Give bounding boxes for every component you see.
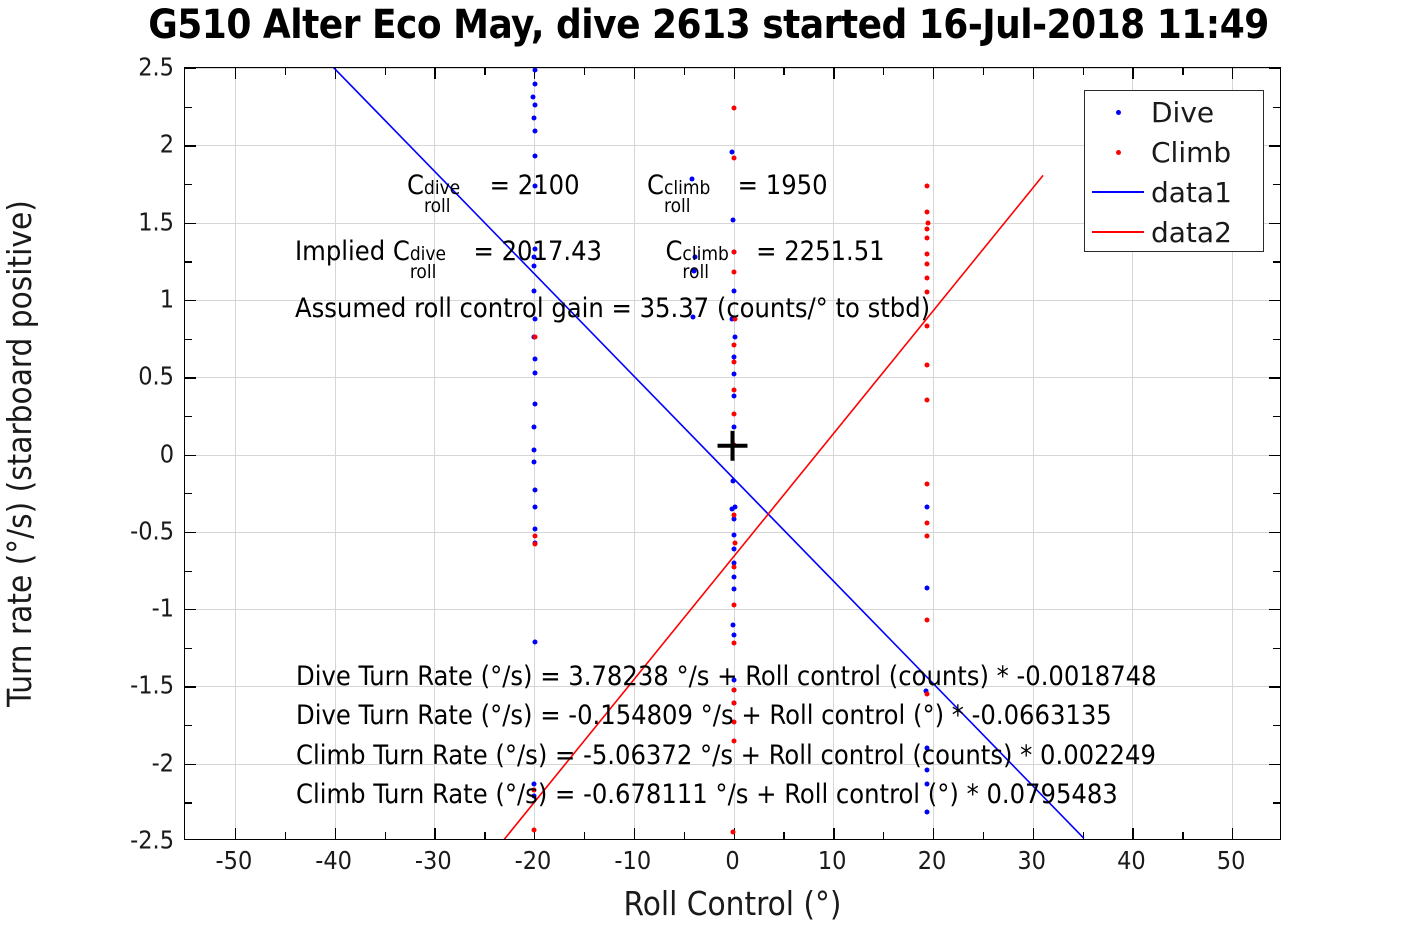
tick-mark bbox=[933, 68, 934, 79]
legend-line-icon bbox=[1092, 231, 1144, 233]
scatter-point-dive bbox=[731, 424, 736, 429]
tick-mark bbox=[285, 832, 286, 839]
scatter-point-dive bbox=[731, 532, 736, 537]
scatter-point-climb bbox=[533, 542, 538, 547]
tick-mark bbox=[634, 68, 635, 79]
scatter-point-dive bbox=[533, 505, 538, 510]
tick-mark bbox=[185, 725, 192, 726]
legend-dot-icon bbox=[1116, 110, 1121, 115]
scatter-point-dive bbox=[533, 401, 538, 406]
scatter-point-climb bbox=[925, 226, 930, 231]
scatter-point-dive bbox=[731, 587, 736, 592]
tick-mark bbox=[185, 145, 196, 146]
tick-mark bbox=[1182, 68, 1183, 75]
legend-marker-swatch bbox=[1085, 150, 1151, 155]
tick-mark bbox=[185, 609, 196, 610]
legend-item-data1[interactable]: data1 bbox=[1085, 172, 1263, 212]
legend[interactable]: DiveClimbdata1data2 bbox=[1084, 90, 1264, 252]
tick-mark bbox=[335, 828, 336, 839]
tick-mark bbox=[1132, 68, 1133, 79]
tick-mark bbox=[1273, 725, 1280, 726]
gridline-horizontal bbox=[185, 455, 1280, 456]
scatter-point-climb bbox=[925, 183, 930, 188]
x-tick-label: -20 bbox=[515, 846, 552, 875]
tick-mark bbox=[1132, 828, 1133, 839]
tick-mark bbox=[1083, 68, 1084, 75]
equation-climb-degrees: Climb Turn Rate (°/s) = -0.678111 °/s + … bbox=[296, 779, 1118, 810]
x-tick-label: 0 bbox=[725, 846, 739, 875]
tick-mark bbox=[1269, 609, 1280, 610]
x-tick-label: -50 bbox=[216, 846, 253, 875]
scatter-point-climb bbox=[926, 220, 931, 225]
scatter-point-climb bbox=[731, 412, 736, 417]
figure-canvas: G510 Alter Eco May, dive 2613 started 16… bbox=[0, 0, 1417, 945]
scatter-point-dive bbox=[533, 488, 538, 493]
scatter-point-dive bbox=[533, 370, 538, 375]
x-tick-label: -10 bbox=[614, 846, 651, 875]
equation-climb-counts: Climb Turn Rate (°/s) = -5.06372 °/s + R… bbox=[296, 740, 1156, 771]
tick-mark bbox=[933, 828, 934, 839]
scatter-point-dive bbox=[533, 67, 538, 72]
c-climb-subscript: roll bbox=[664, 197, 710, 215]
scatter-point-dive bbox=[729, 149, 734, 154]
equation-dive-counts: Dive Turn Rate (°/s) = 3.78238 °/s + Rol… bbox=[296, 661, 1157, 692]
scatter-point-dive bbox=[533, 526, 538, 531]
annotation-c-roll-setpoints: Cdiveroll = 2100 Cclimbroll = 1950 bbox=[407, 172, 828, 199]
scatter-point-dive bbox=[532, 460, 537, 465]
tick-mark bbox=[1273, 802, 1280, 803]
legend-marker-swatch bbox=[1085, 110, 1151, 115]
tick-mark bbox=[1273, 261, 1280, 262]
x-tick-label: -40 bbox=[315, 846, 352, 875]
x-tick-label: 50 bbox=[1217, 846, 1246, 875]
scatter-point-climb bbox=[731, 155, 736, 160]
c-climb-symbol: Cclimbroll bbox=[647, 170, 664, 201]
legend-label: Dive bbox=[1151, 96, 1214, 129]
legend-item-dive[interactable]: Dive bbox=[1085, 92, 1263, 132]
c-dive-symbol: Cdiveroll bbox=[407, 170, 424, 201]
scatter-point-climb bbox=[533, 335, 538, 340]
tick-mark bbox=[185, 300, 196, 301]
scatter-point-dive bbox=[533, 639, 538, 644]
tick-mark bbox=[634, 828, 635, 839]
scatter-point-climb bbox=[731, 270, 736, 275]
tick-mark bbox=[1269, 686, 1280, 687]
tick-mark bbox=[185, 377, 196, 378]
scatter-point-climb bbox=[925, 481, 930, 486]
tick-mark bbox=[1269, 145, 1280, 146]
tick-mark bbox=[185, 764, 196, 765]
x-tick-label: 30 bbox=[1017, 846, 1046, 875]
tick-mark bbox=[185, 802, 192, 803]
tick-mark bbox=[185, 686, 196, 687]
tick-mark bbox=[484, 832, 485, 839]
x-tick-label: 20 bbox=[918, 846, 947, 875]
scatter-point-dive bbox=[925, 585, 930, 590]
legend-line-icon bbox=[1092, 191, 1144, 193]
scatter-point-dive bbox=[732, 335, 737, 340]
tick-mark bbox=[983, 832, 984, 839]
gridline-horizontal bbox=[185, 68, 1280, 69]
scatter-point-dive bbox=[731, 633, 736, 638]
implied-climb-value: = 2251.51 bbox=[748, 236, 884, 267]
tick-mark bbox=[185, 339, 192, 340]
tick-mark bbox=[833, 828, 834, 839]
legend-dot-icon bbox=[1116, 150, 1121, 155]
scatter-point-dive bbox=[533, 129, 538, 134]
scatter-point-dive bbox=[532, 115, 537, 120]
x-tick-label: 40 bbox=[1117, 846, 1146, 875]
tick-mark bbox=[185, 107, 192, 108]
scatter-point-climb bbox=[731, 602, 736, 607]
tick-mark bbox=[1273, 648, 1280, 649]
gridline-horizontal bbox=[185, 377, 1280, 378]
tick-mark bbox=[1269, 300, 1280, 301]
tick-mark bbox=[185, 532, 196, 533]
legend-item-climb[interactable]: Climb bbox=[1085, 132, 1263, 172]
tick-mark bbox=[783, 832, 784, 839]
x-tick-label: 10 bbox=[818, 846, 847, 875]
tick-mark bbox=[185, 261, 192, 262]
legend-label: data1 bbox=[1151, 176, 1232, 209]
annotation-roll-control-gain: Assumed roll control gain = 35.37 (count… bbox=[295, 295, 930, 322]
scatter-point-climb bbox=[731, 443, 736, 448]
tick-mark bbox=[385, 68, 386, 75]
scatter-point-climb bbox=[925, 209, 930, 214]
scatter-point-dive bbox=[731, 574, 736, 579]
tick-mark bbox=[1232, 828, 1233, 839]
scatter-point-climb bbox=[925, 251, 930, 256]
scatter-point-dive bbox=[731, 546, 736, 551]
tick-mark bbox=[185, 571, 192, 572]
tick-mark bbox=[783, 68, 784, 75]
x-tick-label: -30 bbox=[415, 846, 452, 875]
tick-mark bbox=[833, 68, 834, 79]
tick-mark bbox=[1033, 68, 1034, 79]
scatter-point-dive bbox=[730, 622, 735, 627]
equation-dive-degrees: Dive Turn Rate (°/s) = -0.154809 °/s + R… bbox=[296, 700, 1112, 731]
tick-mark bbox=[235, 828, 236, 839]
y-tick-label: 1.5 bbox=[138, 207, 174, 236]
tick-mark bbox=[883, 832, 884, 839]
scatter-point-dive bbox=[533, 154, 538, 159]
y-tick-label: 1 bbox=[160, 284, 174, 313]
scatter-point-climb bbox=[925, 262, 930, 267]
scatter-point-climb bbox=[731, 565, 736, 570]
scatter-point-climb bbox=[925, 692, 930, 697]
tick-mark bbox=[285, 68, 286, 75]
scatter-point-dive bbox=[731, 372, 736, 377]
tick-mark bbox=[185, 416, 192, 417]
tick-mark bbox=[434, 828, 435, 839]
c-dive-subscript: roll bbox=[424, 197, 460, 215]
y-tick-label: 2 bbox=[160, 130, 174, 159]
scatter-point-climb bbox=[925, 520, 930, 525]
tick-mark bbox=[1273, 107, 1280, 108]
scatter-point-dive bbox=[533, 81, 538, 86]
tick-mark bbox=[235, 68, 236, 79]
tick-mark bbox=[1269, 223, 1280, 224]
tick-mark bbox=[1083, 832, 1084, 839]
tick-mark bbox=[1273, 571, 1280, 572]
tick-mark bbox=[983, 68, 984, 75]
scatter-point-climb bbox=[731, 106, 736, 111]
scatter-point-climb bbox=[731, 342, 736, 347]
scatter-point-dive bbox=[533, 356, 538, 361]
scatter-point-climb bbox=[532, 828, 537, 833]
scatter-point-dive bbox=[731, 393, 736, 398]
gridline-vertical bbox=[235, 68, 236, 839]
tick-mark bbox=[1232, 68, 1233, 79]
tick-mark bbox=[1273, 416, 1280, 417]
tick-mark bbox=[584, 68, 585, 75]
scatter-point-dive bbox=[533, 103, 538, 108]
implied-prefix: Implied C bbox=[295, 236, 410, 267]
legend-item-data2[interactable]: data2 bbox=[1085, 212, 1263, 252]
tick-mark bbox=[1269, 764, 1280, 765]
scatter-point-climb bbox=[925, 236, 930, 241]
scatter-point-climb bbox=[730, 829, 735, 834]
tick-mark bbox=[185, 68, 196, 69]
y-tick-label: 0 bbox=[160, 439, 174, 468]
tick-mark bbox=[734, 68, 735, 79]
tick-mark bbox=[1273, 184, 1280, 185]
scatter-point-climb bbox=[925, 398, 930, 403]
tick-mark bbox=[185, 648, 192, 649]
tick-mark bbox=[185, 184, 192, 185]
chart-title: G510 Alter Eco May, dive 2613 started 16… bbox=[148, 2, 1269, 48]
legend-label: Climb bbox=[1151, 136, 1231, 169]
scatter-point-climb bbox=[533, 534, 538, 539]
tick-mark bbox=[1273, 493, 1280, 494]
legend-line-swatch bbox=[1085, 191, 1151, 193]
y-tick-label: 2.5 bbox=[138, 53, 174, 82]
scatter-point-climb bbox=[731, 387, 736, 392]
scatter-point-climb bbox=[731, 359, 736, 364]
scatter-point-dive bbox=[531, 95, 536, 100]
c-climb-value: = 1950 bbox=[730, 170, 828, 201]
x-axis-label: Roll Control (°) bbox=[184, 884, 1281, 923]
c-dive-value: = 2100 bbox=[482, 170, 580, 201]
scatter-point-climb bbox=[925, 617, 930, 622]
y-tick-label: 0.5 bbox=[138, 362, 174, 391]
implied-dive-subscript: roll bbox=[410, 263, 446, 281]
implied-climb-symbol: Cclimbroll bbox=[665, 236, 682, 267]
scatter-point-climb bbox=[731, 512, 736, 517]
scatter-point-climb bbox=[925, 362, 930, 367]
legend-line-swatch bbox=[1085, 231, 1151, 233]
tick-mark bbox=[385, 832, 386, 839]
annotation-implied-c-roll: Implied Cdiveroll = 2017.43 Cclimbroll =… bbox=[295, 238, 885, 265]
tick-mark bbox=[584, 832, 585, 839]
tick-mark bbox=[1269, 68, 1280, 69]
tick-mark bbox=[434, 68, 435, 79]
tick-mark bbox=[185, 493, 192, 494]
implied-dive-value: = 2017.43 bbox=[466, 236, 602, 267]
scatter-point-climb bbox=[925, 534, 930, 539]
y-tick-label: -1 bbox=[152, 594, 174, 623]
tick-mark bbox=[1273, 339, 1280, 340]
scatter-point-climb bbox=[732, 540, 737, 545]
scatter-point-dive bbox=[730, 217, 735, 222]
y-tick-label: -1.5 bbox=[130, 671, 174, 700]
scatter-point-dive bbox=[925, 505, 930, 510]
scatter-point-dive bbox=[731, 517, 736, 522]
gridline-horizontal bbox=[185, 609, 1280, 610]
tick-mark bbox=[1269, 532, 1280, 533]
y-tick-label: -2.5 bbox=[130, 826, 174, 855]
tick-mark bbox=[1033, 828, 1034, 839]
tick-mark bbox=[1269, 377, 1280, 378]
tick-mark bbox=[684, 832, 685, 839]
y-axis-label: Turn rate (°/s) (starboard positive) bbox=[0, 67, 46, 840]
tick-mark bbox=[1269, 455, 1280, 456]
tick-mark bbox=[335, 68, 336, 79]
tick-mark bbox=[185, 455, 196, 456]
scatter-point-climb bbox=[731, 641, 736, 646]
tick-mark bbox=[185, 223, 196, 224]
scatter-point-climb bbox=[925, 324, 930, 329]
tick-mark bbox=[1182, 832, 1183, 839]
tick-mark bbox=[883, 68, 884, 75]
implied-climb-subscript: roll bbox=[682, 263, 728, 281]
tick-mark bbox=[684, 68, 685, 75]
tick-mark bbox=[484, 68, 485, 75]
scatter-point-dive bbox=[532, 424, 537, 429]
y-tick-label: -2 bbox=[152, 748, 174, 777]
scatter-point-dive bbox=[532, 447, 537, 452]
y-tick-label: -0.5 bbox=[130, 516, 174, 545]
scatter-point-dive bbox=[732, 505, 737, 510]
scatter-point-dive bbox=[730, 478, 735, 483]
scatter-point-climb bbox=[925, 276, 930, 281]
legend-label: data2 bbox=[1151, 216, 1232, 249]
